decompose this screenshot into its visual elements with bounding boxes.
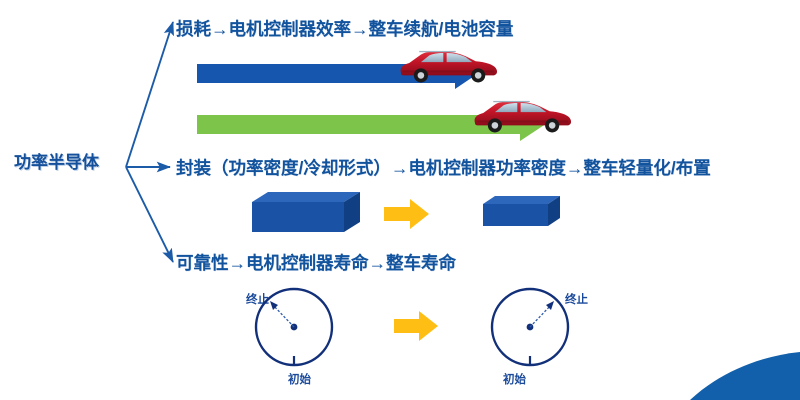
dial-after — [492, 289, 568, 365]
box-large — [252, 192, 360, 232]
box-small — [483, 196, 560, 226]
corner-swoosh-decoration — [690, 352, 800, 400]
branch-connector-arrows — [126, 22, 173, 262]
dial-before — [256, 289, 332, 365]
connector-arrow-reliability — [126, 167, 173, 262]
transition-arrow-packaging — [384, 199, 429, 229]
connector-arrow-efficiency — [126, 22, 173, 167]
graphics-overlay — [0, 0, 800, 400]
transition-arrow-reliability — [394, 311, 438, 341]
slide-canvas: 功率半导体 损耗→电机控制器效率→整车续航/电池容量 封装（功率密度/冷却形式）… — [0, 0, 800, 400]
